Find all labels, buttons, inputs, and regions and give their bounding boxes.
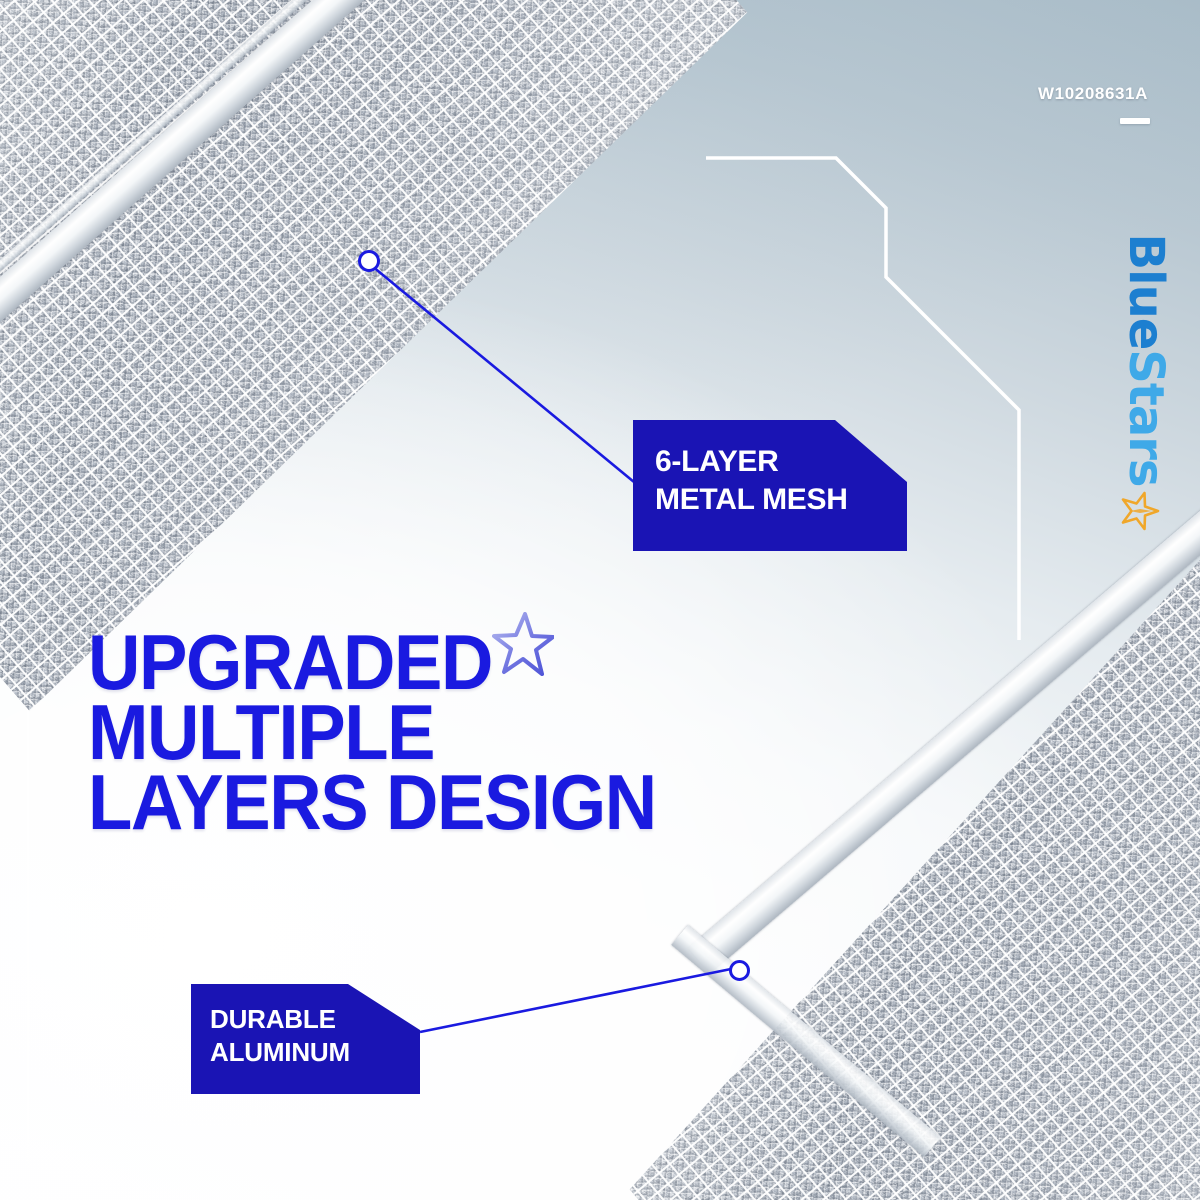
callout-anchor-dot-aluminum (729, 960, 750, 981)
part-number-label: W10208631A (1038, 84, 1148, 104)
callout-metal-mesh-line-2: METAL MESH (655, 481, 907, 519)
brand-name-stars: Stars (1118, 349, 1174, 486)
brand-name-blue: Blue (1118, 234, 1174, 350)
callout-durable-aluminum-line-2: ALUMINUM (210, 1036, 420, 1069)
callout-anchor-dot-mesh (358, 250, 380, 272)
headline-line-2: MULTIPLE (88, 697, 656, 767)
brand-star-icon (1120, 491, 1160, 531)
brand-logo-wordmark: BlueStars (1118, 234, 1174, 487)
part-number-underline-dash (1120, 118, 1150, 124)
headline-line-1: UPGRADED (88, 627, 656, 697)
headline-line-3: LAYERS DESIGN (88, 767, 656, 837)
product-marketing-image: W10208631A BlueStars UPGRADED MULTIPLE L… (0, 0, 1200, 1200)
page-title: UPGRADED MULTIPLE LAYERS DESIGN (88, 627, 656, 837)
brand-logo: BlueStars (1114, 195, 1178, 525)
